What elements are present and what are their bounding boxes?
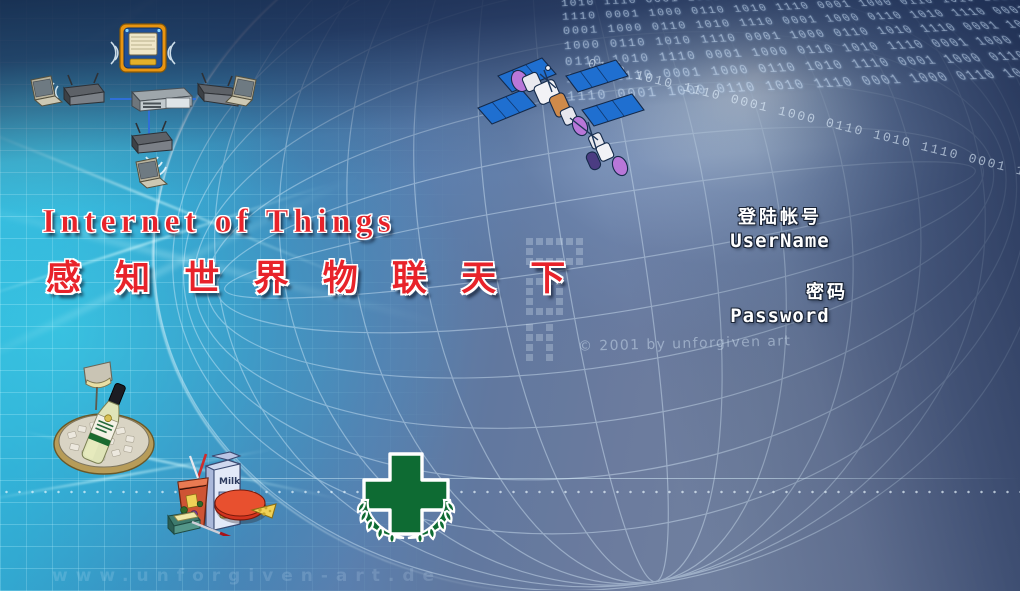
artist-url-watermark: www.unforgiven-art.de (52, 566, 442, 586)
green-medical-cross-with-laurel-icon (352, 450, 460, 542)
password-label-english: Password (696, 305, 864, 328)
password-label-group[interactable]: 密码 Password (696, 281, 864, 328)
svg-text:Milk: Milk (219, 477, 241, 487)
password-label-chinese: 密码 (696, 281, 864, 305)
page-title-chinese: 感 知 世 界 物 联 天 下 (46, 250, 576, 301)
wireless-network-topology-icon (14, 14, 274, 198)
username-label-english: UserName (696, 230, 864, 253)
login-labels: 登陆帐号 UserName 密码 Password (696, 206, 864, 328)
username-label-chinese: 登陆帐号 (696, 206, 864, 230)
cheese-wheel-icon (215, 490, 276, 524)
network-switch-icon (132, 88, 192, 111)
login-screen: 0110 1010 1110 0001 1000 0110 1010 1110 … (0, 0, 1020, 591)
handheld-tester-icon (120, 24, 166, 72)
username-label-group[interactable]: 登陆帐号 UserName (696, 206, 864, 253)
wireless-router-icon (64, 73, 104, 105)
wireless-router-icon (132, 121, 172, 153)
page-title-english: Internet of Things (42, 203, 396, 241)
space-station-icon (470, 48, 655, 183)
groceries-icon: Milk (164, 448, 290, 536)
wine-bottle-on-ice-platter-icon (44, 356, 164, 481)
dotted-rule (0, 490, 1020, 494)
laptop-icon (31, 76, 62, 106)
